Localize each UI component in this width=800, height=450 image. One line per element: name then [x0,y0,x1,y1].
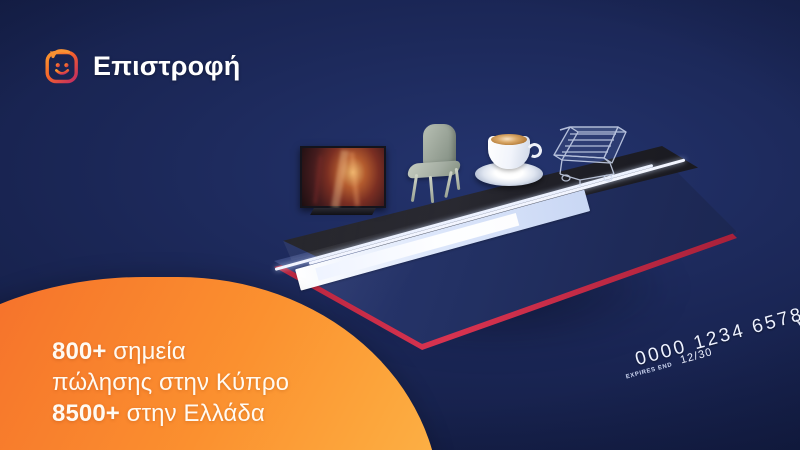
coffee-cup-icon [475,128,543,188]
promo-line-2: πώλησης στην Κύπρο [52,367,289,398]
brand-name: Επιστροφή [93,53,241,80]
promo-line-3-rest: στην Ελλάδα [120,400,265,427]
promo-count-cyprus: 800+ [52,338,106,365]
coffee-crema [491,134,527,145]
brand-logo[interactable]: Επιστροφή [44,47,241,85]
tv-stand [310,208,376,215]
promo-line-1: 800+ σημεία [52,336,289,367]
promo-line-1-rest: σημεία [106,338,185,365]
promo-count-greece: 8500+ [52,400,120,427]
chair-leg [429,176,434,203]
credit-card-illustration: 0000 1234 6578 0000 EXPIRES END 12/30 [255,118,755,353]
chair-leg [455,168,461,190]
cashback-smiley-arrow-icon [44,47,82,85]
promo-line-3: 8500+ στην Ελλάδα [52,398,289,429]
chair-icon [407,124,461,204]
promo-copy: 800+ σημεία πώλησης στην Κύπρο 8500+ στη… [52,336,289,430]
shopping-cart-icon [540,108,632,192]
tv-screen [300,146,386,208]
tv-icon [300,146,386,208]
promotional-banner: Επιστροφή [0,0,800,450]
card-expiry-label: EXPIRES END [625,362,673,381]
